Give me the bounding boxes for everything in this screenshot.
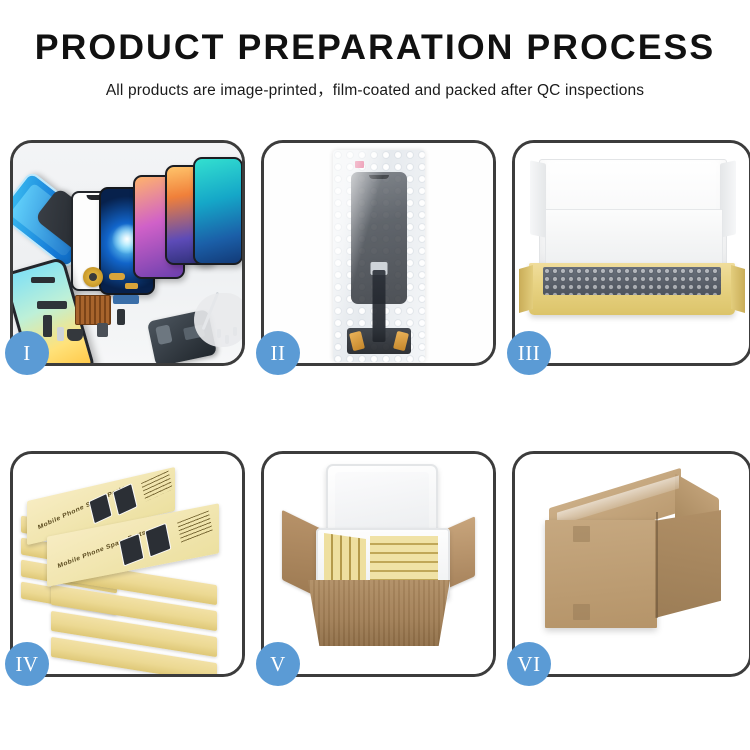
box-stack-group: Mobile Phone Spare Parts Mobile Phone Sp…	[21, 472, 241, 668]
speaker-part-icon	[31, 277, 55, 283]
page-title: PRODUCT PREPARATION PROCESS	[0, 30, 750, 67]
step-badge-6: VI	[507, 642, 551, 686]
carton-edge-line	[656, 512, 658, 618]
step-badge-3: III	[507, 331, 551, 375]
bubble-wrapped-screen-image	[264, 143, 493, 363]
process-step-panel-3: III	[512, 140, 750, 366]
carton-tab-icon	[573, 526, 590, 542]
step-badge-1: I	[5, 331, 49, 375]
process-step-panel-5: V	[261, 451, 496, 677]
process-step-panel-6: VI	[512, 451, 750, 677]
pink-label-icon	[355, 161, 364, 168]
open-retail-box-image	[515, 143, 749, 363]
small-flex-icon	[117, 309, 125, 325]
carton-with-foam-insert-image	[264, 454, 493, 674]
box-spec-lines	[177, 510, 213, 543]
chip-array-icon	[75, 295, 111, 325]
page-header: PRODUCT PREPARATION PROCESS All products…	[0, 0, 750, 100]
process-step-panel-2: II	[261, 140, 496, 366]
flex-cable-vertical-icon	[43, 315, 52, 337]
step-badge-2: II	[256, 331, 300, 375]
sim-tray-icon	[57, 327, 64, 341]
product-preparation-process-page: PRODUCT PREPARATION PROCESS All products…	[0, 0, 750, 750]
carton-front-face-icon	[545, 520, 657, 628]
bubble-wrap-bag-icon	[333, 150, 425, 362]
gold-flex-part-icon	[109, 273, 125, 280]
sealed-shipping-carton-image	[515, 454, 749, 674]
dark-bubble-wrap-icon	[543, 267, 721, 295]
hand-silhouette-icon	[194, 293, 242, 347]
step-badge-4: IV	[5, 642, 49, 686]
flex-cable-icon	[37, 301, 67, 309]
process-steps-grid: I II	[10, 140, 746, 677]
carton-tab-icon	[573, 604, 590, 620]
copper-coil-icon	[83, 267, 103, 287]
page-subtitle: All products are image-printed，film-coat…	[0, 78, 750, 100]
stacked-retail-boxes-image: Mobile Phone Spare Parts Mobile Phone Sp…	[13, 454, 242, 674]
step-badge-5: V	[256, 642, 300, 686]
carton-body-icon	[308, 580, 450, 646]
box-spec-lines	[141, 471, 173, 502]
carton-side-face-icon	[655, 510, 721, 618]
camera-module-icon	[67, 329, 83, 341]
phone-parts-collage-image	[13, 143, 242, 363]
box-screen-graphic	[145, 523, 172, 558]
gold-connector-icon	[125, 283, 138, 289]
battery-connector-icon	[97, 323, 108, 337]
process-step-panel-4: Mobile Phone Spare Parts Mobile Phone Sp…	[10, 451, 245, 677]
blue-flex-cable-icon	[113, 295, 139, 304]
teal-gradient-phone-icon	[193, 157, 242, 265]
process-step-panel-1: I	[10, 140, 245, 366]
